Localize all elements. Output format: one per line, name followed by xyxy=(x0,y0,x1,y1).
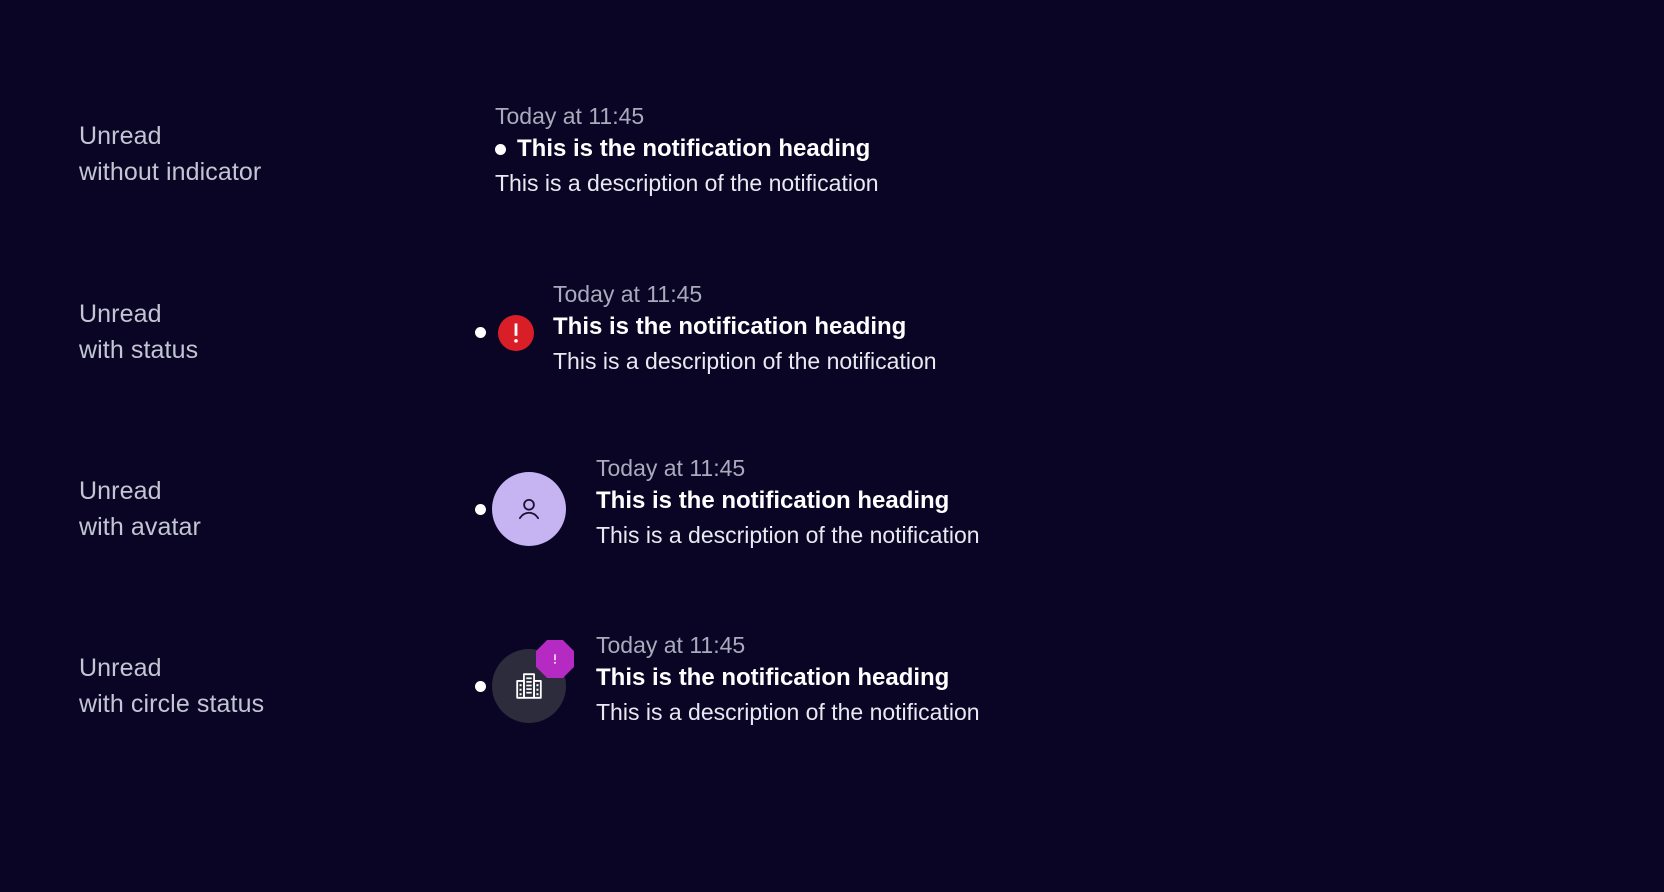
notification-text-block: Today at 11:45 This is the notification … xyxy=(596,452,980,552)
notification-description: This is a description of the notificatio… xyxy=(596,518,980,552)
row-label-unread-with-circle-status: Unread with circle status xyxy=(0,650,420,722)
unread-dot-icon xyxy=(475,681,486,692)
notification-timestamp: Today at 11:45 xyxy=(596,629,980,661)
user-avatar[interactable] xyxy=(492,472,566,546)
unread-dot-icon xyxy=(495,144,506,155)
unread-dot-icon xyxy=(475,327,486,338)
row-label-unread-with-avatar: Unread with avatar xyxy=(0,473,420,545)
notification-timestamp: Today at 11:45 xyxy=(553,278,937,310)
notification-text-block: Today at 11:45 This is the notification … xyxy=(596,629,980,729)
notification-heading: This is the notification heading xyxy=(596,484,980,518)
error-status-icon xyxy=(498,315,534,351)
warning-octagon-badge xyxy=(536,640,574,678)
unread-dot-icon xyxy=(475,504,486,515)
notification-description: This is a description of the notificatio… xyxy=(553,344,937,378)
notification-text-block: Today at 11:45 This is the notification … xyxy=(553,278,937,378)
notification-heading: This is the notification heading xyxy=(553,310,937,344)
notification-heading: This is the notification heading xyxy=(517,132,870,166)
notification-row-unread-with-avatar[interactable]: Unread with avatar Today at 11:45 This i… xyxy=(0,473,1664,545)
circle-status-avatar[interactable] xyxy=(492,649,566,723)
notification-heading: This is the notification heading xyxy=(596,661,980,695)
row-label-unread-without-indicator: Unread without indicator xyxy=(0,118,420,190)
notification-timestamp: Today at 11:45 xyxy=(596,452,980,484)
notification-row-unread-with-circle-status[interactable]: Unread with circle status xyxy=(0,650,1664,722)
notification-variants-canvas: Unread without indicator Today at 11:45 … xyxy=(0,0,1664,892)
notification-description: This is a description of the notificatio… xyxy=(495,166,879,200)
notification-heading-row: This is the notification heading xyxy=(495,132,879,166)
notification-row-unread-with-status[interactable]: Unread with status Today at 11:45 This i… xyxy=(0,296,1664,368)
notification-timestamp: Today at 11:45 xyxy=(495,100,879,132)
notification-text-block: Today at 11:45 This is the notification … xyxy=(495,100,879,200)
notification-row-unread-without-indicator[interactable]: Unread without indicator Today at 11:45 … xyxy=(0,118,1664,190)
row-label-unread-with-status: Unread with status xyxy=(0,296,420,368)
notification-description: This is a description of the notificatio… xyxy=(596,695,980,729)
